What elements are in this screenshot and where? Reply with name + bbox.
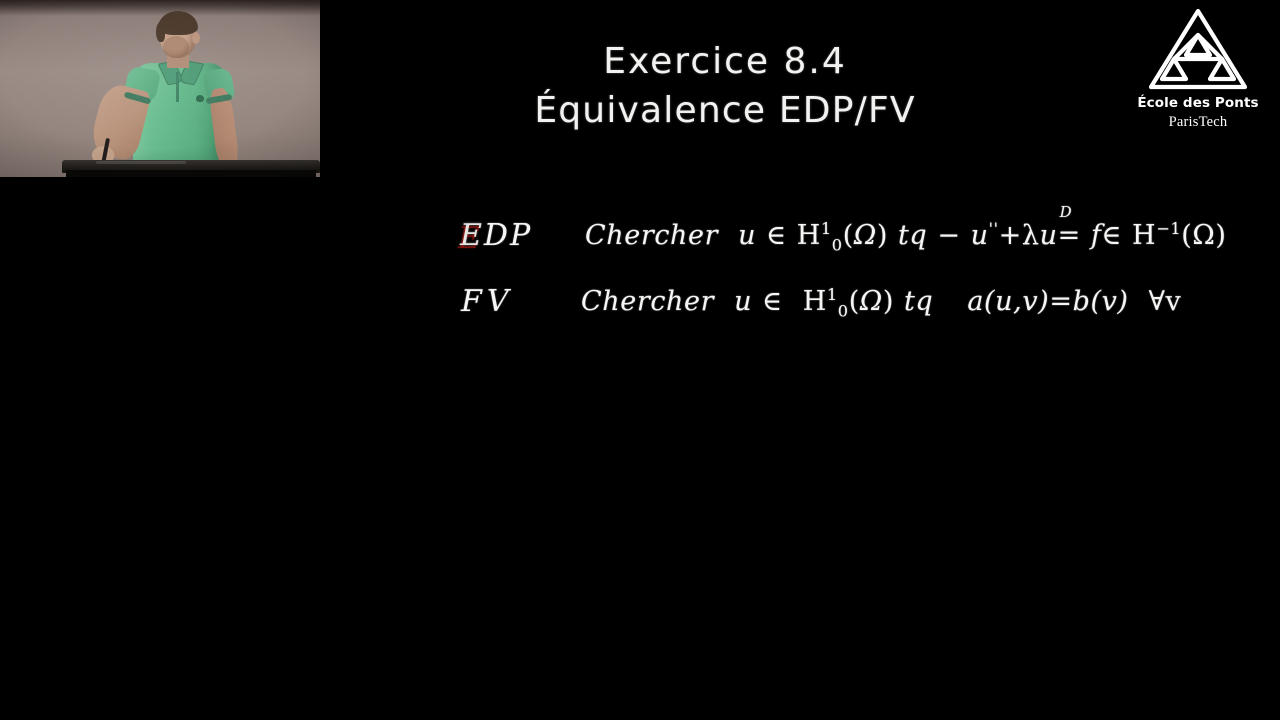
edp-space-sup: 1: [821, 219, 832, 238]
edp-suchthat: tq: [898, 220, 927, 251]
edp-lead: Chercher: [585, 220, 718, 251]
edp-eq-u: u: [971, 220, 989, 251]
fv-domain-open: (: [849, 286, 860, 317]
fv-membership: ∈: [762, 286, 783, 317]
fv-domain-close: ): [883, 286, 894, 317]
video-vignette: [0, 0, 320, 177]
edp-domain-open: (: [843, 220, 854, 251]
edp-equals: =: [1058, 220, 1081, 251]
edp-space: H: [797, 220, 821, 251]
row-statement-fv: Chercheru∈H10(Ω)tqa(u,v)=b(v)∀v: [581, 285, 1181, 320]
edp-domain: Ω: [854, 220, 877, 251]
edp-equals-annotation: D: [1060, 203, 1073, 221]
fv-space-sub: 0: [838, 301, 849, 320]
lecture-slide-screen: Exercice 8.4 Équivalence EDP/FV École de…: [0, 0, 1280, 720]
fv-variable: u: [734, 286, 752, 317]
fv-space-sup: 1: [827, 285, 838, 304]
institution-logo: École des Ponts ParisTech: [1134, 6, 1262, 131]
edp-eq-u-sup: '': [989, 219, 999, 238]
row-label-fv: FV: [461, 284, 513, 319]
row-label-edp: EDP: [460, 218, 532, 253]
edp-rhs-domain: (Ω): [1181, 220, 1226, 251]
edp-lambda: λ: [1022, 220, 1040, 251]
fv-form-equals: =: [1049, 286, 1072, 317]
edp-space-sub: 0: [832, 235, 843, 254]
fv-space: H: [803, 286, 827, 317]
edp-rhs-f: f: [1091, 220, 1102, 251]
fv-domain: Ω: [860, 286, 883, 317]
edp-domain-close: ): [877, 220, 888, 251]
fv-forall: ∀v: [1149, 286, 1182, 317]
slide-title-block: Exercice 8.4 Équivalence EDP/FV: [330, 38, 1120, 136]
edp-lambda-u: u: [1040, 220, 1058, 251]
fv-bilinear-form: a(u,v): [967, 286, 1049, 317]
edp-variable: u: [738, 220, 756, 251]
edp-equals-group: D=: [1058, 220, 1081, 251]
presenter-webcam-overlay[interactable]: [0, 0, 320, 177]
fv-linear-form: b(v): [1073, 286, 1129, 317]
page-title: Exercice 8.4: [330, 38, 1120, 86]
page-subtitle: Équivalence EDP/FV: [330, 86, 1120, 136]
edp-membership: ∈: [766, 220, 787, 251]
edp-rhs-space-sup: −1: [1156, 219, 1181, 238]
edp-plus: +: [999, 220, 1022, 251]
edp-minus: −: [937, 220, 960, 251]
fv-lead: Chercher: [581, 286, 714, 317]
fv-suchthat: tq: [904, 286, 933, 317]
logo-institution-subname: ParisTech: [1134, 114, 1262, 131]
row-statement-edp: Chercheru∈H10(Ω)tq−u''+λuD=f∈H−1(Ω): [585, 219, 1227, 254]
logo-institution-name: École des Ponts: [1134, 95, 1262, 111]
sierpinski-triangle-icon: [1146, 6, 1250, 92]
edp-rhs-space: H: [1132, 220, 1156, 251]
edp-label-rest: DP: [484, 218, 532, 253]
edp-label-first-letter: E: [460, 218, 484, 253]
edp-rhs-in: ∈: [1101, 220, 1122, 251]
